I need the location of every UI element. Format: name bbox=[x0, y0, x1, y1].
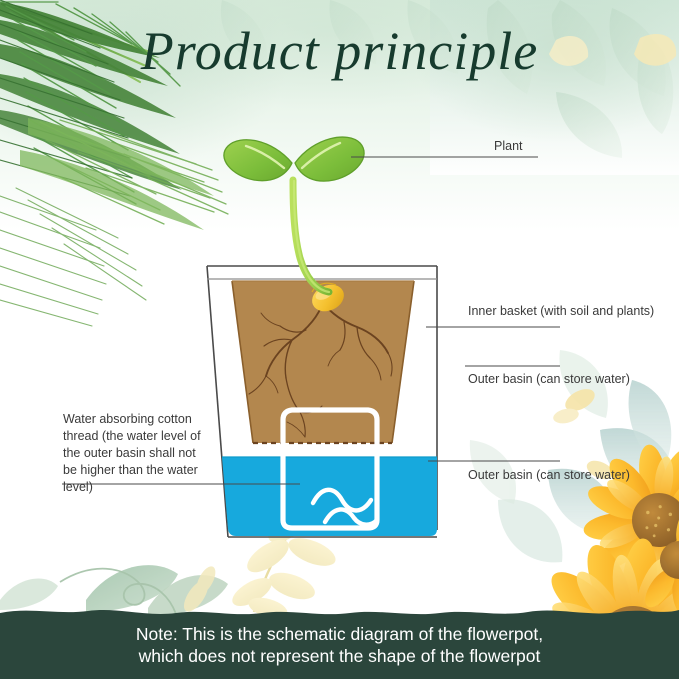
product-principle-infographic: Product principle Plant Inner basket (wi… bbox=[0, 0, 679, 679]
label-outer-basin-upper: Outer basin (can store water) bbox=[468, 371, 630, 388]
label-outer-basin-lower: Outer basin (can store water) bbox=[468, 467, 630, 484]
note-text: Note: This is the schematic diagram of t… bbox=[0, 623, 679, 668]
note-bar: Note: This is the schematic diagram of t… bbox=[0, 607, 679, 679]
label-inner-basket: Inner basket (with soil and plants) bbox=[468, 303, 654, 320]
label-plant: Plant bbox=[494, 138, 523, 155]
note-line-1: Note: This is the schematic diagram of t… bbox=[0, 623, 679, 645]
page-title: Product principle bbox=[0, 20, 679, 82]
sunflower-decor bbox=[0, 0, 679, 679]
note-line-2: which does not represent the shape of th… bbox=[0, 645, 679, 667]
label-cotton-thread: Water absorbing cotton thread (the water… bbox=[63, 411, 213, 495]
